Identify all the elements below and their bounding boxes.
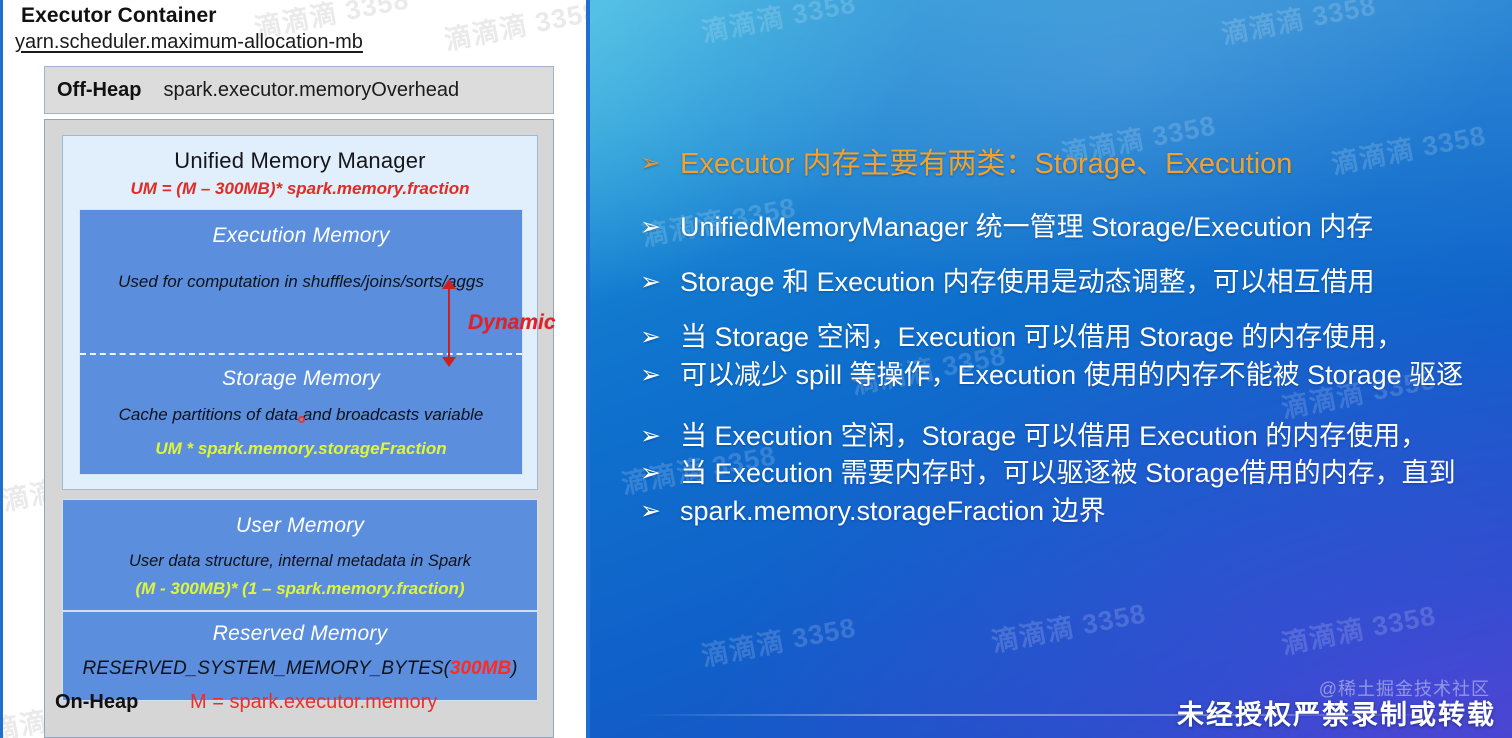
bullet-text: Executor 内存主要有两类：Storage、Execution bbox=[680, 148, 1292, 182]
on-heap-label: On-Heap bbox=[55, 691, 138, 714]
slide-canvas: 滴滴滴 3358 滴滴滴 3358 滴滴滴 3358 滴滴滴 3358 滴滴滴 … bbox=[0, 0, 1512, 738]
user-memory-formula: (M - 300MB)* (1 – spark.memory.fraction) bbox=[63, 579, 537, 599]
unified-memory-manager-box: Unified Memory Manager UM = (M – 300MB)*… bbox=[62, 135, 538, 490]
dynamic-double-arrow-icon bbox=[448, 288, 450, 358]
bullet-item: ➢ 当 Execution 空闲，Storage 可以借用 Execution … bbox=[640, 421, 1512, 452]
reserved-constant-close: ) bbox=[511, 658, 517, 679]
spacer bbox=[640, 298, 1512, 322]
umm-title: Unified Memory Manager bbox=[63, 148, 537, 174]
reserved-memory-constant: RESERVED_SYSTEM_MEMORY_BYTES(300MB) bbox=[63, 658, 537, 680]
user-memory-description: User data structure, internal metadata i… bbox=[63, 552, 537, 571]
arrow-bullet-icon: ➢ bbox=[640, 458, 680, 488]
bullet-text: UnifiedMemoryManager 统一管理 Storage/Execut… bbox=[680, 212, 1373, 243]
arrow-bullet-icon: ➢ bbox=[640, 496, 680, 526]
arrow-bullet-icon: ➢ bbox=[640, 148, 680, 178]
spacer bbox=[640, 182, 1512, 212]
bullet-text: 当 Storage 空闲，Execution 可以借用 Storage 的内存使… bbox=[680, 322, 1403, 353]
spacer bbox=[640, 243, 1512, 267]
bullet-item: ➢ Storage 和 Execution 内存使用是动态调整，可以相互借用 bbox=[640, 267, 1512, 298]
diagram-subtitle: yarn.scheduler.maximum-allocation-mb bbox=[15, 31, 363, 54]
bullet-item: ➢ 可以减少 spill 等操作，Execution 使用的内存不能被 Stor… bbox=[640, 360, 1512, 391]
bullet-item: ➢ UnifiedMemoryManager 统一管理 Storage/Exec… bbox=[640, 212, 1512, 243]
bullet-text: spark.memory.storageFraction 边界 bbox=[680, 496, 1106, 527]
execution-storage-region: Execution Memory Used for computation in… bbox=[79, 209, 523, 475]
arrow-bullet-icon: ➢ bbox=[640, 322, 680, 352]
off-heap-value: spark.executor.memoryOverhead bbox=[163, 79, 459, 102]
copyright-notice: 未经授权严禁录制或转载 bbox=[1177, 693, 1496, 732]
bullet-item: ➢ 当 Storage 空闲，Execution 可以借用 Storage 的内… bbox=[640, 322, 1512, 353]
storage-memory-formula: UM * spark.memory.storageFraction bbox=[80, 439, 522, 459]
bullet-text: 可以减少 spill 等操作，Execution 使用的内存不能被 Storag… bbox=[680, 360, 1463, 391]
off-heap-label: Off-Heap bbox=[57, 79, 141, 102]
reserved-memory-title: Reserved Memory bbox=[63, 622, 537, 646]
user-memory-title: User Memory bbox=[63, 514, 537, 538]
bullet-item: ➢ spark.memory.storageFraction 边界 bbox=[640, 496, 1512, 527]
bullet-list: ➢ Executor 内存主要有两类：Storage、Execution ➢ U… bbox=[640, 148, 1512, 527]
bullet-text: 当 Execution 空闲，Storage 可以借用 Execution 的内… bbox=[680, 421, 1427, 452]
on-heap-footer: On-Heap M = spark.executor.memory bbox=[45, 683, 553, 727]
spacer bbox=[640, 391, 1512, 421]
storage-memory-title: Storage Memory bbox=[80, 367, 522, 391]
execution-memory-title: Execution Memory bbox=[80, 224, 522, 248]
on-heap-value: M = spark.executor.memory bbox=[190, 691, 437, 714]
storage-memory-region: Storage Memory Cache partitions of data … bbox=[80, 353, 522, 459]
executor-container-diagram: 滴滴滴 3358 滴滴滴 3358 滴滴滴 3358 滴滴滴 3358 Exec… bbox=[0, 0, 590, 738]
annotation-dot-icon bbox=[298, 416, 305, 423]
dynamic-label: Dynamic bbox=[468, 311, 556, 335]
watermark: 滴滴滴 3358 bbox=[441, 0, 590, 58]
arrow-bullet-icon: ➢ bbox=[640, 212, 680, 242]
bullet-item: ➢ 当 Execution 需要内存时，可以驱逐被 Storage借用的内存，直… bbox=[640, 458, 1512, 489]
diagram-title: Executor Container bbox=[21, 4, 217, 28]
bullet-text: Storage 和 Execution 内存使用是动态调整，可以相互借用 bbox=[680, 267, 1375, 298]
arrow-bullet-icon: ➢ bbox=[640, 267, 680, 297]
bullet-text: 当 Execution 需要内存时，可以驱逐被 Storage借用的内存，直到 bbox=[680, 458, 1456, 489]
bullet-item: ➢ Executor 内存主要有两类：Storage、Execution bbox=[640, 148, 1512, 182]
arrow-bullet-icon: ➢ bbox=[640, 360, 680, 390]
arrow-bullet-icon: ➢ bbox=[640, 421, 680, 451]
user-memory-box: User Memory User data structure, interna… bbox=[62, 499, 538, 611]
reserved-constant-value: 300MB bbox=[450, 658, 511, 679]
off-heap-row: Off-Heap spark.executor.memoryOverhead bbox=[44, 66, 554, 114]
on-heap-container: Unified Memory Manager UM = (M – 300MB)*… bbox=[44, 119, 554, 738]
umm-formula: UM = (M – 300MB)* spark.memory.fraction bbox=[63, 179, 537, 199]
reserved-constant-name: RESERVED_SYSTEM_MEMORY_BYTES( bbox=[82, 658, 449, 679]
